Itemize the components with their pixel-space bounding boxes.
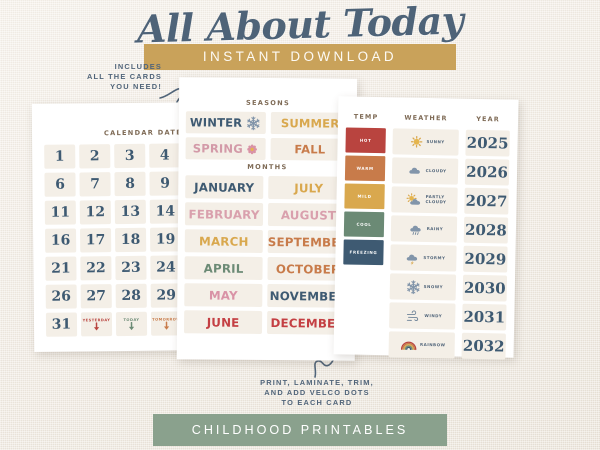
season-chip[interactable]: SPRING — [186, 137, 266, 160]
weather-chip[interactable]: RAINBOW — [388, 331, 454, 358]
instant-download-label: INSTANT DOWNLOAD — [144, 44, 456, 70]
weather-chip[interactable]: PARTLYCLOUDY — [391, 186, 457, 213]
callout-line: TO EACH CARD — [228, 398, 406, 408]
year-list[interactable]: 20252026202720282029203020312032 — [461, 130, 509, 360]
season-label: SUMMER — [281, 116, 340, 131]
weather-chip[interactable]: CLOUDY — [392, 157, 458, 184]
year-chip[interactable]: 2029 — [463, 246, 507, 273]
season-label: FALL — [294, 142, 325, 156]
date-chip[interactable]: 4 — [149, 143, 180, 167]
weather-chip[interactable]: WINDY — [389, 302, 455, 329]
callout-includes: INCLUDESALL THE CARDSYOU NEED! — [62, 62, 162, 92]
year-chip[interactable]: 2027 — [464, 188, 508, 215]
date-chip[interactable]: 16 — [45, 229, 76, 253]
months-heading: MONTHS — [185, 162, 349, 171]
seasons-grid[interactable]: WINTERSUMMERSPRINGFALL — [186, 111, 350, 160]
temp-swatch[interactable]: HOT — [345, 127, 385, 153]
brand-label: CHILDHOOD PRINTABLES — [192, 423, 409, 437]
callout-line: YOU NEED! — [62, 82, 162, 92]
weather-label: SNOWY — [424, 285, 444, 290]
year-chip[interactable]: 2032 — [461, 333, 505, 360]
flower-icon — [247, 143, 258, 154]
month-chip[interactable]: FEBRUARY — [185, 202, 263, 226]
date-chip[interactable]: 28 — [116, 284, 147, 308]
weather-chip[interactable]: RAINY — [391, 215, 457, 242]
cloud-icon — [406, 164, 422, 178]
date-chip[interactable]: 22 — [80, 256, 111, 280]
date-chip[interactable]: 26 — [46, 284, 77, 308]
date-chip[interactable]: 11 — [45, 201, 76, 225]
date-chip[interactable]: 13 — [115, 200, 146, 224]
season-chip[interactable]: WINTER — [186, 111, 266, 134]
weather-column-header: WEATHER — [393, 113, 459, 123]
callout-line: INCLUDES — [62, 62, 162, 72]
temp-swatch[interactable]: FREEZING — [343, 239, 383, 265]
weather-label: CLOUDY — [426, 169, 447, 174]
date-chip[interactable]: 7 — [79, 172, 110, 196]
temp-swatch[interactable]: MILD — [344, 183, 384, 209]
date-chip[interactable]: 19 — [150, 227, 181, 251]
date-chip[interactable]: 31 — [46, 312, 77, 336]
snowflake-icon — [405, 279, 420, 294]
wind-icon — [405, 309, 421, 322]
callout-print-instructions: PRINT, LAMINATE, TRIM,AND ADD VELCO DOTS… — [228, 378, 406, 408]
weather-chip[interactable]: STORMY — [390, 244, 456, 271]
weather-label: PARTLYCLOUDY — [425, 195, 446, 205]
weather-label: WINDY — [424, 314, 442, 319]
date-chip[interactable]: 3 — [114, 144, 145, 168]
temp-column-header: TEMP — [346, 112, 386, 122]
relative-day-chip[interactable]: YESTERDAY — [81, 312, 112, 336]
weather-label: RAINBOW — [420, 343, 445, 348]
date-chip[interactable]: 27 — [81, 284, 112, 308]
arrow-down-icon — [162, 321, 171, 330]
year-column-header: YEAR — [466, 115, 510, 125]
callout-line: ALL THE CARDS — [62, 72, 162, 82]
months-grid[interactable]: JANUARYJULYFEBRUARYAUGUSTMARCHSEPTEMBERA… — [184, 175, 349, 334]
rain-cloud-icon — [408, 221, 424, 236]
season-label: WINTER — [190, 115, 242, 129]
temp-swatch[interactable]: COOL — [344, 211, 384, 237]
year-chip[interactable]: 2028 — [464, 217, 508, 244]
date-chip[interactable]: 1 — [44, 145, 75, 169]
date-chip[interactable]: 17 — [80, 228, 111, 252]
month-chip[interactable]: MAY — [184, 283, 262, 307]
year-chip[interactable]: 2030 — [463, 275, 507, 302]
relative-day-chip[interactable]: TODAY — [116, 312, 147, 336]
date-chip[interactable]: 9 — [149, 171, 180, 195]
callout-line: AND ADD VELCO DOTS — [228, 388, 406, 398]
season-label: SPRING — [193, 141, 243, 155]
month-chip[interactable]: JANUARY — [185, 175, 263, 199]
rainbow-icon — [401, 339, 417, 351]
weather-label: RAINY — [427, 227, 444, 232]
year-chip[interactable]: 2026 — [465, 159, 509, 186]
temp-swatch-list[interactable]: HOTWARMMILDCOOLFREEZING — [343, 127, 386, 265]
partly-cloudy-icon — [405, 192, 422, 207]
date-chip[interactable]: 8 — [114, 172, 145, 196]
brand-footer-banner: CHILDHOOD PRINTABLES — [153, 414, 447, 446]
year-chip[interactable]: 2031 — [462, 304, 506, 331]
seasons-months-card[interactable]: SEASONS WINTERSUMMERSPRINGFALL MONTHS JA… — [177, 77, 357, 361]
storm-cloud-icon — [404, 250, 420, 265]
month-chip[interactable]: APRIL — [184, 256, 262, 280]
date-chip[interactable]: 2 — [79, 144, 110, 168]
seasons-heading: SEASONS — [186, 98, 350, 107]
temp-swatch[interactable]: WARM — [345, 155, 385, 181]
arrow-down-icon — [92, 322, 101, 331]
date-chip[interactable]: 23 — [115, 256, 146, 280]
snowflake-icon — [246, 115, 261, 130]
weather-label: SUNNY — [426, 140, 444, 145]
sun-icon — [409, 135, 423, 149]
date-chip[interactable]: 21 — [45, 257, 76, 281]
weather-chip[interactable]: SUNNY — [392, 128, 458, 155]
date-chip[interactable]: 18 — [115, 228, 146, 252]
weather-year-card[interactable]: TEMP HOTWARMMILDCOOLFREEZING WEATHER SUN… — [334, 96, 519, 357]
date-chip[interactable]: 14 — [150, 199, 181, 223]
month-chip[interactable]: JUNE — [184, 310, 262, 334]
date-chip[interactable]: 12 — [80, 200, 111, 224]
arrow-down-icon — [127, 321, 136, 330]
weather-label: STORMY — [423, 256, 445, 261]
instant-download-banner: INSTANT DOWNLOAD — [144, 44, 456, 70]
year-chip[interactable]: 2025 — [465, 130, 509, 157]
month-chip[interactable]: MARCH — [185, 229, 263, 253]
weather-chip[interactable]: SNOWY — [390, 273, 456, 300]
date-chip[interactable]: 6 — [44, 173, 75, 197]
weather-list[interactable]: SUNNYCLOUDYPARTLYCLOUDYRAINYSTORMYSNOWYW… — [388, 128, 458, 358]
